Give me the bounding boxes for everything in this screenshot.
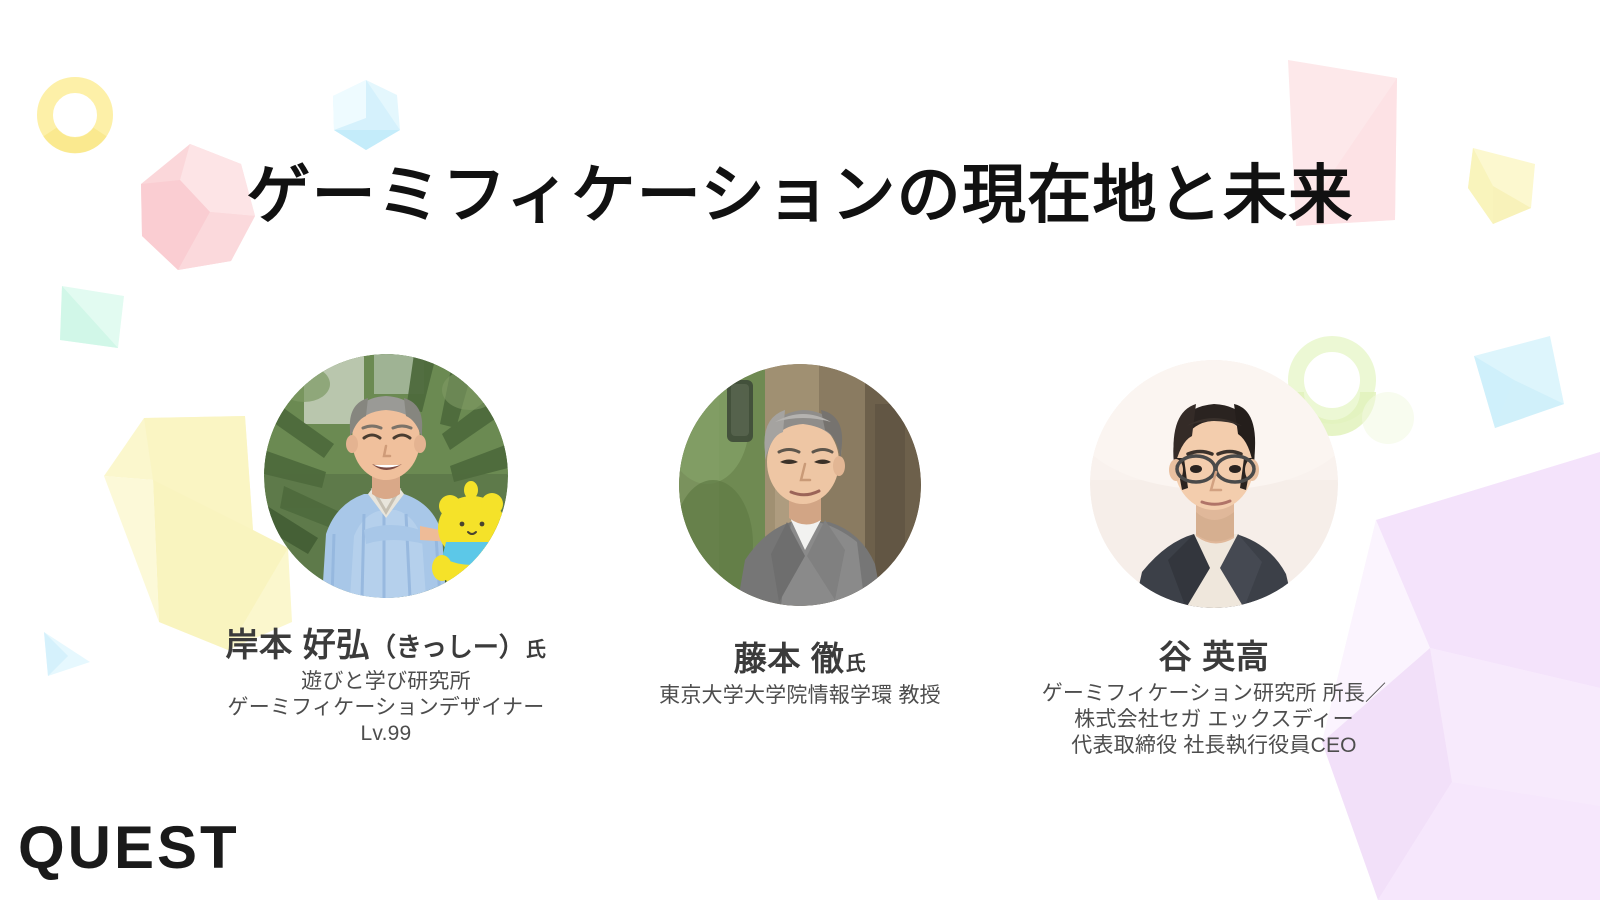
- speaker-name-2: 藤本 徹氏: [734, 640, 866, 679]
- mascot-plush: [432, 481, 508, 594]
- speaker-name-1: 岸本 好弘（きっしー）氏: [225, 626, 546, 665]
- speaker-name-honorific-2: 氏: [846, 653, 867, 675]
- speaker-role-1: 遊びと学び研究所 ゲーミフィケーションデザイナー Lv.99: [228, 669, 545, 747]
- mint-diamond-shape: [60, 286, 124, 348]
- speaker-role-line: 遊びと学び研究所: [228, 669, 545, 695]
- presentation-slide: ゲーミフィケーションの現在地と未来: [0, 0, 1600, 900]
- speaker-card-1: 岸本 好弘（きっしー）氏 遊びと学び研究所 ゲーミフィケーションデザイナー Lv…: [176, 348, 596, 747]
- yellow-ring-shape: [45, 85, 105, 145]
- page-title: ゲーミフィケーションの現在地と未来: [246, 160, 1353, 230]
- speaker-role-line: Lv.99: [228, 721, 545, 747]
- avatar-speaker-1: [264, 354, 508, 598]
- speaker-card-3: 谷 英高 ゲーミフィケーション研究所 所長／ 株式会社セガ エックスディー 代表…: [1004, 348, 1424, 759]
- speaker-role-line: ゲーミフィケーション研究所 所長／: [1042, 681, 1387, 707]
- speaker-name-3: 谷 英高: [1159, 638, 1270, 677]
- speaker-role-line: ゲーミフィケーションデザイナー: [228, 695, 545, 721]
- avatar-photo-3: [1090, 360, 1338, 608]
- speaker-name-main-2: 藤本 徹: [734, 640, 845, 677]
- speakers-row: 岸本 好弘（きっしー）氏 遊びと学び研究所 ゲーミフィケーションデザイナー Lv…: [0, 348, 1600, 759]
- speaker-role-3: ゲーミフィケーション研究所 所長／ 株式会社セガ エックスディー 代表取締役 社…: [1042, 681, 1387, 759]
- speaker-card-2: 藤本 徹氏 東京大学大学院情報学環 教授: [590, 348, 1010, 709]
- speaker-role-line: 東京大学大学院情報学環 教授: [659, 683, 941, 709]
- speaker-role-line: 代表取締役 社長執行役員CEO: [1042, 733, 1387, 759]
- speaker-role-2: 東京大学大学院情報学環 教授: [659, 683, 941, 709]
- speaker-name-honorific-1: 氏: [526, 639, 547, 661]
- avatar-photo-1: [264, 354, 508, 598]
- avatar-speaker-3: [1090, 360, 1338, 608]
- title-block: ゲーミフィケーションの現在地と未来: [0, 160, 1600, 230]
- speaker-name-nickname-1: （きっしー）: [370, 632, 525, 662]
- avatar-speaker-2: [679, 364, 921, 606]
- quest-logo: QUEST: [18, 818, 240, 878]
- speaker-role-line: 株式会社セガ エックスディー: [1042, 707, 1387, 733]
- avatar-photo-2: [679, 364, 921, 606]
- blue-icosahedron-shape: [333, 80, 400, 150]
- speaker-name-main-3: 谷 英高: [1159, 638, 1270, 675]
- speaker-name-main-1: 岸本 好弘: [225, 626, 369, 663]
